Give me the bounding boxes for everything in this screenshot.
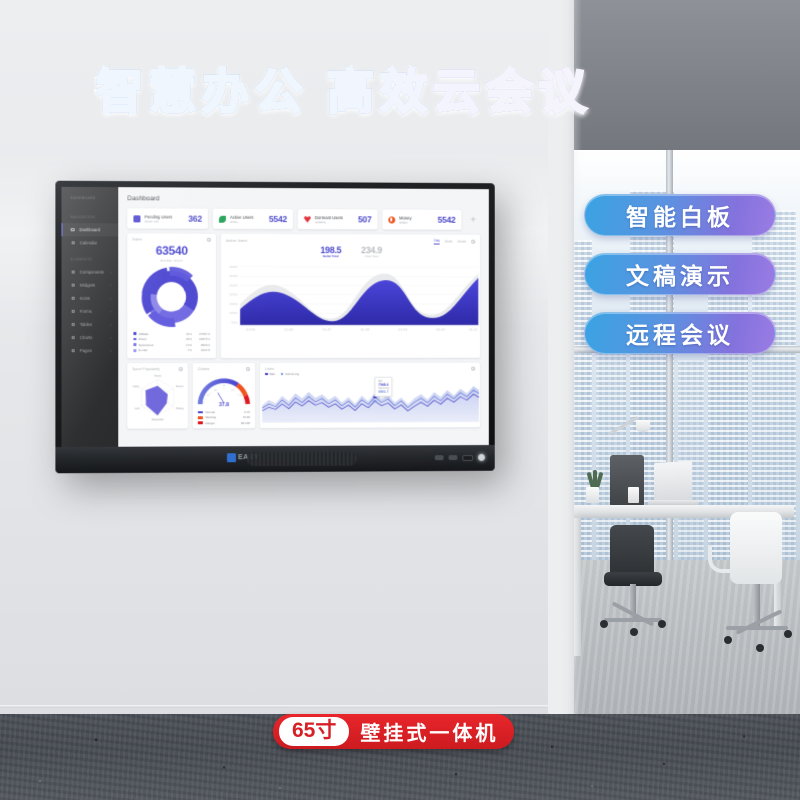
- legend-range: 90-100: [241, 421, 250, 425]
- svg-text:Golf: Golf: [135, 407, 140, 410]
- tab-month[interactable]: Month: [458, 239, 467, 243]
- area-chart: 35003000 25002000 15001000 500 01-0501-0…: [221, 258, 480, 332]
- sidebar-item-calendar[interactable]: Calendar: [61, 236, 118, 249]
- gear-icon[interactable]: [471, 367, 475, 371]
- legend-label: Direct: [139, 337, 181, 341]
- chevron-right-icon: ›: [110, 309, 111, 313]
- stat-card-dormant-users[interactable]: Dormant Users undefine 507: [298, 209, 377, 229]
- svg-text:Hockey: Hockey: [176, 407, 185, 410]
- heart-icon: [304, 216, 311, 223]
- chevron-right-icon: ›: [110, 336, 111, 340]
- display-chin: EASY: [55, 445, 494, 473]
- sport-popularity-card: Sport Popularity: [127, 363, 187, 428]
- sidebar-item-forms[interactable]: Forms ›: [61, 305, 118, 318]
- legend-percent: 7%: [181, 348, 192, 352]
- sidebar-item-charts[interactable]: Charts ›: [61, 331, 118, 344]
- legend-item: Normal 0-70: [198, 410, 250, 414]
- svg-text:1500: 1500: [229, 302, 237, 305]
- tab-day[interactable]: Day: [434, 239, 440, 245]
- charts-icon: [71, 335, 76, 340]
- tables-icon: [71, 322, 76, 327]
- legend-item: Sponsored 13% 8260.2: [133, 343, 210, 347]
- chevron-right-icon: ›: [110, 349, 111, 353]
- legend-swatch: [281, 373, 284, 376]
- legend-item: Affiliate 44% 27957.6: [133, 332, 210, 336]
- svg-text:Volley: Volley: [133, 385, 140, 388]
- legend-label: Normal: [205, 410, 244, 414]
- legend-swatch: [198, 422, 203, 425]
- svg-text:90: 90: [239, 395, 242, 397]
- stat-card-money[interactable]: Money dollars 5542: [382, 209, 461, 229]
- dashboard-app: DASHBOARD NAVIGATION Dashboard Calendar …: [61, 187, 488, 447]
- chair-caster: [658, 620, 666, 628]
- legend-item: Danger 90-100: [198, 421, 250, 425]
- svg-text:0: 0: [203, 402, 205, 404]
- sidebar-brand: DASHBOARD: [61, 196, 118, 207]
- legend-range: 0-70: [244, 410, 250, 414]
- desk-leg: [574, 518, 581, 656]
- chair-caster: [724, 636, 732, 644]
- kpi-bullet-total-label: Bullet Total: [320, 254, 341, 258]
- chevron-right-icon: ›: [110, 296, 111, 300]
- svg-text:3000: 3000: [229, 274, 237, 277]
- legend-item: Ball: [265, 372, 275, 376]
- forms-icon: [71, 309, 76, 314]
- gauge-legend: Normal 0-70 Warning 70-90: [198, 410, 250, 425]
- svg-text:Tennis: Tennis: [154, 375, 162, 378]
- stat-card-value: 507: [358, 214, 371, 224]
- legend-swatch: [198, 416, 203, 419]
- legend-item: Warning 70-90: [198, 415, 250, 419]
- components-icon: [71, 270, 76, 275]
- legend-label: Danger: [205, 421, 241, 425]
- dashboard-main: Dashboard Pending Users Assist. Util. 36…: [118, 187, 489, 447]
- area-chart-tabs: Day Week Month: [434, 239, 475, 245]
- sidebar-section-elements: ELEMENTS: [61, 249, 118, 265]
- calendar-icon: [71, 240, 76, 245]
- poster-canvas: 智慧办公 高效云会议 智能白板 文稿演示 远程会议 65寸 壁挂式一体机 DAS…: [0, 0, 800, 800]
- legend-swatch: [133, 343, 136, 346]
- legend-swatch: [133, 349, 136, 352]
- chart-row-primary: Sales 63540 MORE INFO: [127, 233, 480, 358]
- svg-text:01-10: 01-10: [436, 327, 445, 330]
- sales-donut-card: Sales 63540 MORE INFO: [127, 233, 216, 358]
- svg-text:2000: 2000: [229, 293, 237, 296]
- svg-text:3500: 3500: [229, 265, 237, 268]
- legend-item: Swimming: [281, 372, 299, 376]
- svg-text:01-06: 01-06: [284, 327, 293, 330]
- chair-caster: [756, 644, 764, 652]
- legend-amount: 27957.6: [192, 332, 210, 336]
- sales-more-info-label[interactable]: MORE INFO: [127, 258, 216, 262]
- feature-badge-remote-meeting[interactable]: 远程会议: [584, 312, 776, 354]
- sidebar-section-navigation: NAVIGATION: [61, 207, 118, 223]
- sidebar-item-label: Forms: [80, 309, 92, 314]
- chevron-right-icon: ›: [110, 270, 111, 274]
- port-icon: [435, 455, 444, 460]
- chart-tooltip: Ball 7948.4 Swimming 6861.7: [375, 377, 393, 397]
- legend-label: Warning: [205, 415, 242, 419]
- svg-text:500: 500: [231, 320, 237, 323]
- svg-text:70: 70: [232, 389, 235, 391]
- svg-text:01-08: 01-08: [361, 327, 370, 330]
- widgets-icon: [71, 283, 76, 288]
- legend-amount: 4447.8: [192, 348, 210, 352]
- claims-gauge-card: Claims: [193, 363, 255, 428]
- chair-base: [604, 618, 662, 622]
- stat-card-row: Pending Users Assist. Util. 362 Active U…: [127, 208, 480, 229]
- chevron-right-icon: ›: [110, 283, 111, 287]
- gear-icon[interactable]: [246, 367, 250, 371]
- card-title: Lines: [265, 367, 274, 371]
- wall-mounted-display: DASHBOARD NAVIGATION Dashboard Calendar …: [55, 181, 494, 474]
- legend-range: 70-90: [243, 415, 250, 419]
- page-title: 智慧办公 高效云会议: [96, 66, 696, 118]
- stat-card-value: 5542: [438, 215, 456, 225]
- legend-swatch: [133, 332, 136, 335]
- svg-text:01-09: 01-09: [398, 327, 407, 330]
- stat-card-active-users[interactable]: Active Users active 5542: [213, 209, 293, 229]
- radar-chart: Tennis Soccer Hockey Basketball Golf Vol…: [127, 371, 187, 423]
- tab-week[interactable]: Week: [445, 239, 453, 243]
- sales-legend: Affiliate 44% 27957.6 Direct 38% 22875.4: [133, 332, 210, 353]
- sidebar-item-components[interactable]: Components ›: [61, 265, 118, 278]
- legend-percent: 13%: [181, 343, 192, 347]
- tooltip-value-swimming: 6861.7: [378, 390, 389, 394]
- legend-label: E-mail: [139, 348, 181, 352]
- sidebar: DASHBOARD NAVIGATION Dashboard Calendar …: [61, 187, 118, 447]
- feature-badge-presentation[interactable]: 文稿演示: [584, 253, 776, 295]
- card-title: Sport Popularity: [132, 367, 160, 371]
- active-users-area-card: Active Users Day Week Month: [221, 234, 480, 358]
- potted-plant: [586, 487, 599, 503]
- card-title: Claims: [198, 367, 210, 371]
- legend-label: Sponsored: [139, 343, 181, 347]
- line-chart: [260, 375, 480, 423]
- pages-icon: [71, 348, 76, 353]
- svg-text:50: 50: [223, 385, 226, 387]
- square-icon: [133, 215, 140, 222]
- feature-badge-list: 智能白板 文稿演示 远程会议: [584, 194, 780, 371]
- svg-text:Soccer: Soccer: [176, 385, 184, 388]
- svg-text:01-07: 01-07: [323, 327, 332, 330]
- stat-card-value: 5542: [269, 214, 287, 224]
- coin-icon: [388, 216, 395, 223]
- legend-label: Ball: [270, 372, 275, 376]
- home-icon: [70, 227, 75, 232]
- chair-base: [726, 626, 788, 630]
- port-icon: [449, 455, 458, 460]
- product-spec-label: 65寸 壁挂式一体机: [273, 714, 514, 749]
- legend-amount: 8260.2: [192, 343, 210, 347]
- legend-percent: 44%: [181, 332, 192, 336]
- power-led-icon[interactable]: [478, 454, 485, 461]
- desk-lamp-head: [636, 420, 650, 432]
- office-chair-light-back: [730, 512, 782, 584]
- legend-item: E-mail 7% 4447.8: [133, 348, 210, 352]
- svg-text:1000: 1000: [229, 311, 237, 314]
- gauge-chart: 020 4050 7090 100 37.8: [193, 371, 255, 409]
- chair-caster: [630, 628, 638, 636]
- sidebar-item-pages[interactable]: Pages ›: [61, 344, 118, 357]
- sidebar-item-label: Tables: [80, 322, 92, 327]
- legend-swatch: [133, 338, 136, 341]
- chair-caster: [600, 620, 608, 628]
- sidebar-item-label: Calendar: [80, 240, 97, 245]
- sidebar-item-widgets[interactable]: Widgets ›: [61, 279, 118, 292]
- office-chair-dark-back: [610, 525, 654, 577]
- chevron-right-icon: ›: [110, 322, 111, 326]
- legend-item: Direct 38% 22875.4: [133, 337, 210, 341]
- screen-size-chip: 65寸: [279, 717, 349, 745]
- feature-badge-whiteboard[interactable]: 智能白板: [584, 194, 776, 236]
- sales-total-value: 63540: [127, 244, 216, 258]
- sidebar-item-label: Components: [80, 270, 104, 275]
- svg-text:Basketball: Basketball: [152, 418, 164, 421]
- add-card-button[interactable]: +: [466, 210, 480, 230]
- donut-chart: [127, 265, 216, 327]
- sidebar-item-dashboard[interactable]: Dashboard: [61, 223, 118, 236]
- dashboard-page-title: Dashboard: [127, 195, 480, 204]
- pen-cup: [628, 487, 639, 503]
- svg-text:01-05: 01-05: [246, 327, 255, 330]
- card-title: Sales: [132, 237, 142, 241]
- sidebar-item-label: Dashboard: [79, 227, 100, 232]
- card-title: Active Users: [226, 239, 247, 243]
- svg-text:2500: 2500: [229, 283, 237, 286]
- stat-card-subtitle: active: [230, 219, 265, 223]
- stat-card-subtitle: Assist. Util.: [145, 219, 185, 223]
- sidebar-item-tables[interactable]: Tables ›: [61, 318, 118, 331]
- sidebar-item-label: Pages: [80, 348, 92, 353]
- lines-chart-card: Lines Ball Swimming: [260, 363, 480, 428]
- stat-card-subtitle: dollars: [399, 220, 433, 224]
- legend-label: Swimming: [285, 372, 299, 376]
- legend-label: Affiliate: [139, 332, 181, 336]
- port-cluster: [435, 454, 485, 461]
- area-kpi-row: 198.5 Bullet Total 234.9 Flow Total: [221, 244, 480, 258]
- brand-logo-mark: [227, 453, 236, 462]
- usb-port-icon: [462, 454, 473, 460]
- sidebar-item-label: Charts: [80, 335, 93, 340]
- stat-card-pending-users[interactable]: Pending Users Assist. Util. 362: [127, 208, 208, 228]
- stat-card-value: 362: [188, 214, 202, 224]
- display-screen[interactable]: DASHBOARD NAVIGATION Dashboard Calendar …: [61, 187, 488, 447]
- legend-percent: 38%: [181, 337, 192, 341]
- laptop-screen: [654, 461, 692, 503]
- leaf-icon: [219, 215, 226, 222]
- chart-row-secondary: Sport Popularity: [127, 363, 480, 429]
- gear-icon[interactable]: [471, 239, 475, 243]
- speaker-grille: [247, 452, 357, 467]
- legend-swatch: [265, 373, 268, 376]
- sidebar-item-label: Widgets: [80, 283, 95, 288]
- mount-type-label: 壁挂式一体机: [360, 717, 498, 746]
- svg-text:01-11: 01-11: [469, 327, 478, 330]
- sidebar-item-label: Icons: [80, 296, 90, 301]
- icons-icon: [71, 296, 76, 301]
- gauge-value: 37.8: [219, 402, 229, 408]
- gear-icon[interactable]: [179, 367, 183, 371]
- sidebar-item-icons[interactable]: Icons ›: [61, 292, 118, 305]
- chair-caster: [784, 630, 792, 638]
- stat-card-subtitle: undefine: [315, 220, 354, 224]
- legend-swatch: [198, 411, 203, 414]
- svg-text:20: 20: [207, 395, 210, 397]
- legend-amount: 22875.4: [192, 337, 210, 341]
- gear-icon[interactable]: [207, 238, 211, 242]
